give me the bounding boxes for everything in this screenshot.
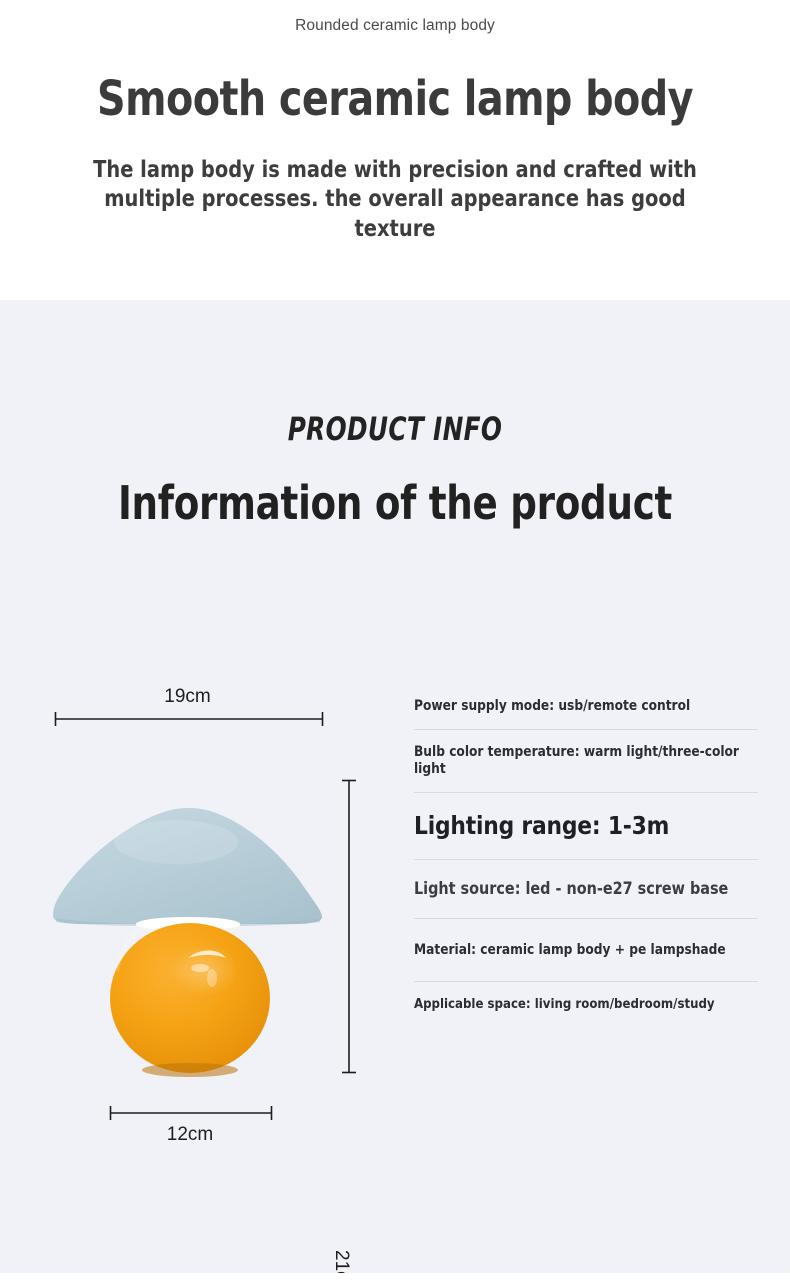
spec-row-light-source: Light source: led - non-e27 screw base	[414, 860, 758, 918]
lamp-illustration-area: 19cm 21cm 12cm	[0, 370, 400, 1170]
spec-text-applicable-space: Applicable space: living room/bedroom/st…	[414, 997, 715, 1013]
hero-eyebrow: Rounded ceramic lamp body	[0, 17, 790, 35]
spec-text-material: Material: ceramic lamp body + pe lampsha…	[414, 942, 726, 959]
spec-row-lighting-range: Lighting range: 1-3m	[414, 793, 758, 859]
specifications-list: Power supply mode: usb/remote control Bu…	[414, 683, 758, 1028]
product-infographic-page: Rounded ceramic lamp body Smooth ceramic…	[0, 0, 790, 1285]
hero-title: Smooth ceramic lamp body	[32, 70, 759, 129]
lamp-shade	[53, 808, 322, 927]
spec-text-light-source: Light source: led - non-e27 screw base	[414, 879, 728, 898]
lamp-diagram-svg	[0, 370, 400, 1170]
spec-row-bulb-color-temperature: Bulb color temperature: warm light/three…	[414, 730, 758, 792]
hero-subtitle: The lamp body is made with precision and…	[71, 156, 720, 244]
spec-row-power-supply: Power supply mode: usb/remote control	[414, 683, 758, 729]
page-footer-strip	[0, 1273, 790, 1285]
dimension-label-width-top: 19cm	[0, 686, 375, 708]
dimension-line-width-top	[55, 712, 323, 726]
spec-row-applicable-space: Applicable space: living room/bedroom/st…	[414, 982, 758, 1028]
dimension-line-width-bottom	[110, 1106, 272, 1120]
hero-section: Rounded ceramic lamp body Smooth ceramic…	[0, 0, 790, 300]
dimension-line-height	[342, 780, 356, 1073]
spec-row-material: Material: ceramic lamp body + pe lampsha…	[414, 919, 758, 981]
spec-text-lighting-range: Lighting range: 1-3m	[414, 811, 669, 841]
dimension-label-width-bottom: 12cm	[0, 1124, 380, 1146]
lamp-base	[110, 922, 270, 1077]
spec-text-power-supply: Power supply mode: usb/remote control	[414, 698, 690, 715]
spec-text-bulb-color-temperature: Bulb color temperature: warm light/three…	[414, 744, 748, 777]
